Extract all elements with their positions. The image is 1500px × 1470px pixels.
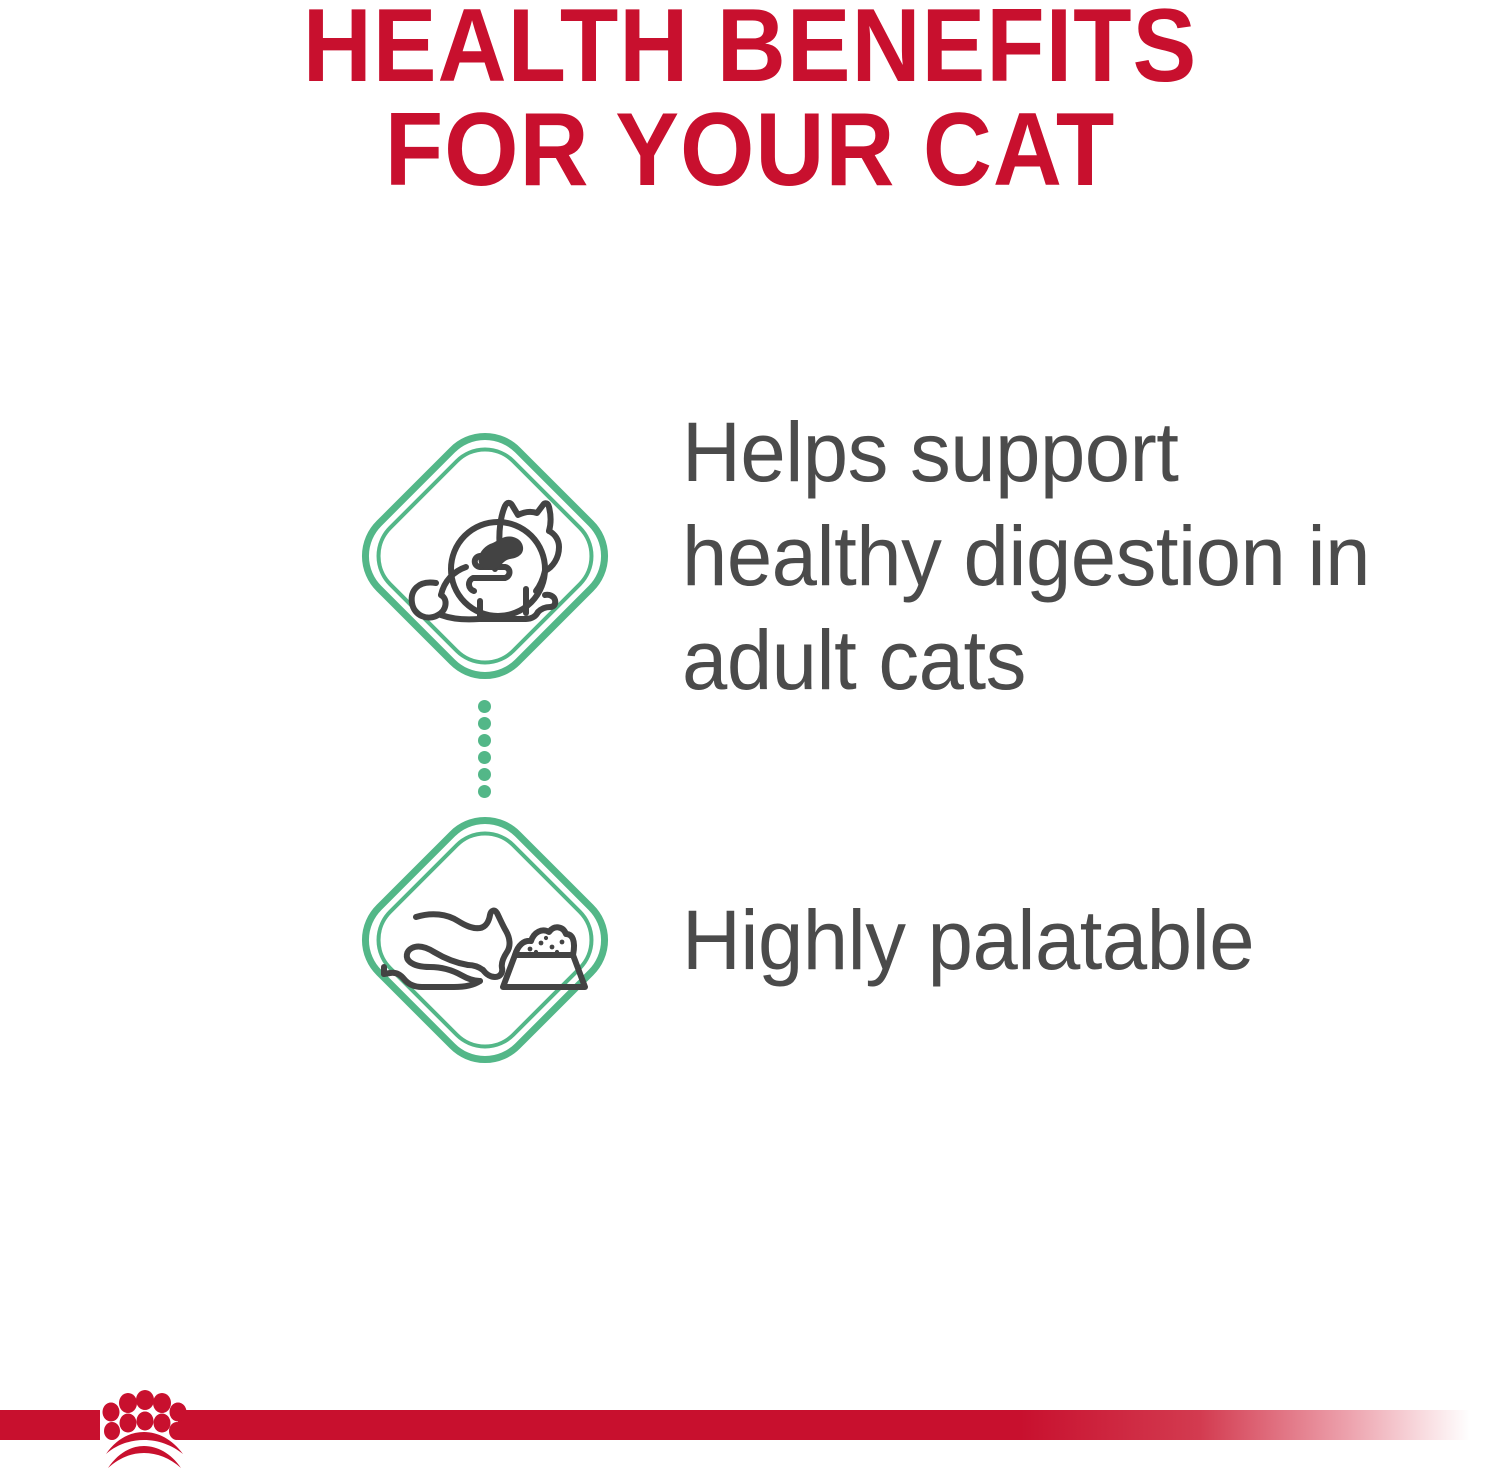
page-title-line-2: FOR YOUR CAT	[60, 98, 1440, 202]
cat-eating-bowl-icon	[340, 795, 630, 1085]
benefit-label: Helps support healthy digestion in adult…	[682, 400, 1448, 712]
connector-dot	[478, 734, 491, 747]
page-title-line-1: HEALTH BENEFITS	[60, 0, 1440, 98]
royal-canin-crown-logo	[98, 1376, 190, 1470]
connector-dot	[478, 700, 491, 713]
page-title: HEALTH BENEFITS FOR YOUR CAT	[0, 0, 1500, 202]
benefit-item: Highly palatable	[340, 795, 1272, 1085]
health-benefits-panel: HEALTH BENEFITS FOR YOUR CAT	[0, 0, 1500, 1470]
benefit-label: Highly palatable	[682, 888, 1254, 992]
connector-dot	[478, 751, 491, 764]
dotted-connector	[478, 700, 498, 796]
cat-digestion-icon	[340, 411, 630, 701]
footer-red-rule	[0, 1410, 1500, 1440]
benefit-item: Helps support healthy digestion in adult…	[340, 400, 1472, 712]
connector-dot	[478, 717, 491, 730]
connector-dot	[478, 768, 491, 781]
